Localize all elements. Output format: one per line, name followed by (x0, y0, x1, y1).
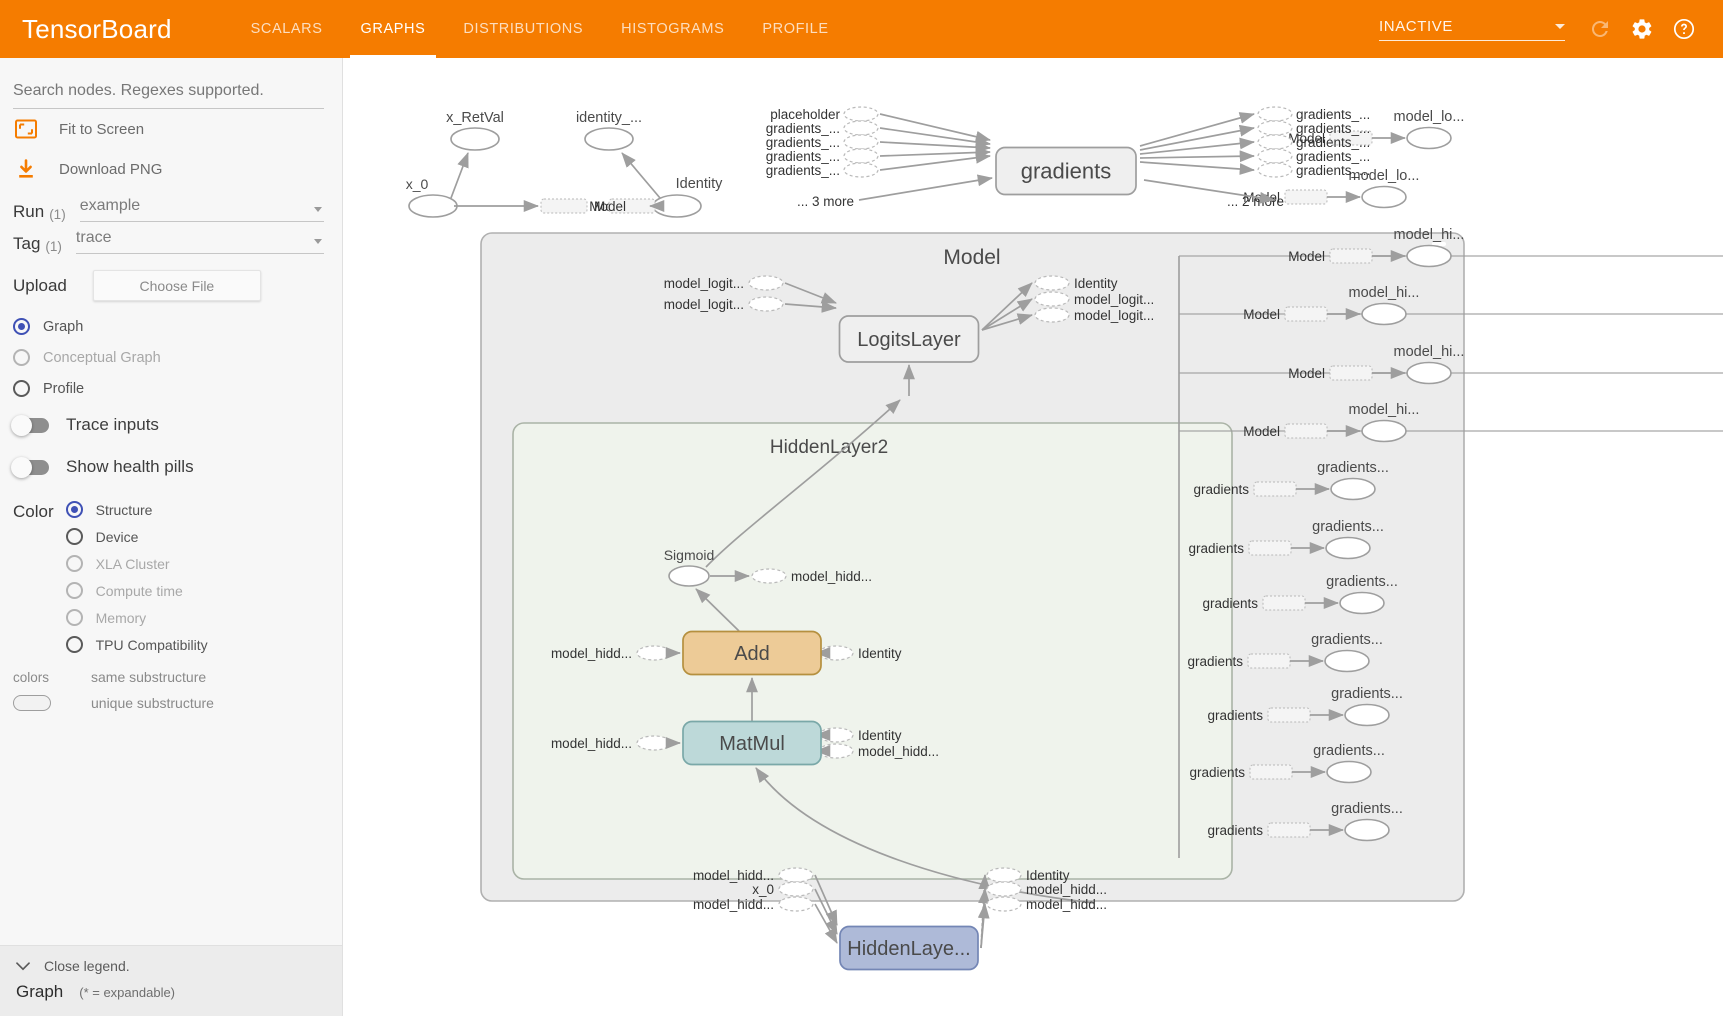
output-label: Identity (858, 728, 902, 743)
container-title-model: Model (943, 246, 1000, 269)
graph-edge (451, 153, 468, 198)
input-label: model_hidd... (551, 736, 632, 751)
sidebar-content: Fit to Screen Download PNG Run (1) examp… (0, 58, 342, 1016)
close-legend-label: Close legend. (44, 958, 130, 974)
legend-row-unique: unique substructure (0, 690, 342, 716)
node-x-retval[interactable] (451, 128, 499, 150)
radio-indicator (66, 555, 83, 572)
run-label: Run (13, 202, 44, 222)
node-x-0[interactable] (409, 195, 457, 217)
side-row-left-label: gradients (1189, 765, 1245, 780)
side-row-ellipse[interactable] (1362, 304, 1406, 325)
tab-profile[interactable]: PROFILE (743, 0, 847, 58)
output-node[interactable] (819, 728, 853, 742)
graph-type-radio-group: Graph Conceptual Graph Profile (0, 301, 342, 404)
radio-profile[interactable]: Profile (0, 373, 342, 404)
output-node[interactable] (1258, 149, 1292, 163)
radio-device[interactable]: Device (66, 523, 342, 550)
stub-node[interactable] (1248, 654, 1290, 668)
fit-to-screen-label: Fit to Screen (59, 121, 144, 138)
output-node[interactable] (1258, 121, 1292, 135)
label-model-stub-2: Model (589, 199, 626, 214)
label-identity: Identity (676, 176, 723, 192)
side-row-ellipse[interactable] (1407, 246, 1451, 267)
op-node-hiddenlaye[interactable]: HiddenLaye... (840, 927, 978, 970)
radio-indicator (13, 318, 30, 335)
label-identity-ref: identity_... (576, 110, 642, 126)
output-label: Identity (1026, 868, 1070, 883)
color-legend: colors same substructure unique substruc… (0, 658, 342, 716)
color-options: Structure Device XLA Cluster Compute tim… (66, 496, 342, 658)
graph-edge (1140, 128, 1254, 150)
choose-file-button[interactable]: Choose File (93, 270, 261, 301)
graph-edge (1140, 114, 1254, 146)
radio-indicator (66, 636, 83, 653)
stub-node[interactable] (1249, 541, 1291, 555)
input-node[interactable] (749, 297, 783, 311)
radio-graph-label: Graph (43, 319, 83, 335)
side-row-ellipse[interactable] (1340, 593, 1384, 614)
tab-scalars[interactable]: SCALARS (232, 0, 342, 58)
side-row-ellipse[interactable] (1362, 421, 1406, 442)
op-node-label-add: Add (734, 643, 770, 665)
op-node-label-gradients: gradients (1021, 159, 1112, 184)
status-label: INACTIVE (1379, 18, 1565, 35)
radio-xla-cluster-label: XLA Cluster (96, 556, 170, 572)
reload-icon[interactable] (1579, 8, 1621, 50)
run-selector[interactable]: Run (1) example (0, 190, 342, 222)
input-label: gradients_... (766, 163, 840, 178)
upload-row: Upload Choose File (0, 254, 342, 301)
input-node[interactable] (844, 163, 878, 177)
stub-node[interactable] (1285, 307, 1327, 321)
stub-node[interactable] (1250, 765, 1292, 779)
radio-compute-time-label: Compute time (96, 583, 183, 599)
input-label: model_hidd... (693, 897, 774, 912)
chevron-down-icon (314, 239, 322, 244)
trace-inputs-toggle[interactable]: Trace inputs (0, 404, 342, 446)
output-node[interactable] (819, 744, 853, 758)
radio-conceptual-graph-label: Conceptual Graph (43, 350, 161, 366)
input-node[interactable] (779, 882, 813, 896)
stub-node[interactable] (1285, 190, 1327, 204)
stub-model-1[interactable] (541, 199, 587, 213)
input-label: x_0 (752, 882, 774, 897)
graph-edge (1140, 156, 1254, 158)
output-label: model_hidd... (1026, 897, 1107, 912)
input-label: gradients_... (766, 121, 840, 136)
radio-structure-label: Structure (96, 502, 153, 518)
side-row-ellipse[interactable] (1327, 762, 1371, 783)
input-label: model_hidd... (551, 646, 632, 661)
op-node-label-logitslayer: LogitsLayer (857, 329, 961, 351)
input-node[interactable] (637, 736, 671, 750)
run-count: (1) (49, 207, 66, 222)
side-row-ellipse[interactable] (1325, 651, 1369, 672)
sidebar: Fit to Screen Download PNG Run (1) examp… (0, 58, 343, 1016)
input-node[interactable] (844, 135, 878, 149)
radio-tpu-compatibility-label: TPU Compatibility (96, 637, 208, 653)
radio-compute-time[interactable]: Compute time (66, 577, 342, 604)
input-label: gradients_... (766, 149, 840, 164)
output-node[interactable] (987, 882, 1021, 896)
side-row-left-label: Model (1288, 249, 1325, 264)
op-node-logitslayer[interactable]: LogitsLayer (840, 316, 979, 362)
output-node[interactable] (1035, 308, 1069, 322)
output-label: gradients_... (1296, 121, 1370, 136)
tag-label: Tag (13, 234, 40, 254)
op-node-label-matmul: MatMul (719, 733, 785, 755)
side-row-right-label: model_hi... (1394, 344, 1465, 360)
graph-edge (1140, 162, 1254, 170)
radio-tpu-compatibility[interactable]: TPU Compatibility (66, 631, 342, 658)
side-row-right-label: model_hi... (1349, 402, 1420, 418)
op-node-label-hiddenlaye: HiddenLaye... (847, 938, 970, 960)
label-x-0: x_0 (406, 176, 429, 192)
radio-profile-label: Profile (43, 381, 84, 397)
output-label: model_hidd... (1026, 882, 1107, 897)
graph-canvas[interactable]: ModelHiddenLayer2 Modelmodel_lo...Modelm… (344, 58, 1723, 1016)
output-node[interactable] (987, 897, 1021, 911)
output-label: model_logit... (1074, 308, 1154, 323)
label-sigmoid: Sigmoid (664, 547, 715, 563)
chevron-down-icon (16, 962, 30, 971)
side-row-ellipse[interactable] (1345, 705, 1389, 726)
upload-label: Upload (13, 276, 67, 296)
input-node[interactable] (844, 149, 878, 163)
graph-edge (622, 153, 660, 198)
download-icon (13, 159, 39, 180)
app-header: TensorBoard SCALARS GRAPHS DISTRIBUTIONS… (0, 0, 1723, 58)
input-node[interactable] (779, 868, 813, 882)
color-label: Color (0, 496, 54, 658)
output-more-label: ... 2 more (1227, 194, 1284, 209)
output-node[interactable] (1035, 276, 1069, 290)
radio-conceptual-graph[interactable]: Conceptual Graph (0, 342, 342, 373)
unique-substructure-swatch (13, 695, 51, 711)
radio-memory[interactable]: Memory (66, 604, 342, 631)
input-more-label: ... 3 more (797, 194, 854, 209)
output-node[interactable] (1258, 107, 1292, 121)
input-label: placeholder (770, 107, 840, 122)
radio-indicator (66, 501, 83, 518)
side-row-left-label: gradients (1207, 823, 1263, 838)
radio-device-label: Device (96, 529, 139, 545)
close-legend-button[interactable]: Close legend. (16, 958, 342, 974)
output-node[interactable] (987, 868, 1021, 882)
graph-edge (880, 142, 990, 148)
fit-to-screen-icon (13, 119, 39, 139)
side-row-left-label: gradients (1202, 596, 1258, 611)
chevron-down-icon (1555, 24, 1565, 29)
side-row-ellipse[interactable] (1331, 479, 1375, 500)
side-row-left-label: Model (1288, 366, 1325, 381)
stub-node[interactable] (1263, 596, 1305, 610)
radio-graph[interactable]: Graph (0, 311, 342, 342)
label-x-retval: x_RetVal (446, 110, 504, 126)
op-node-gradients[interactable]: gradients (996, 148, 1136, 195)
tag-value: trace (76, 229, 324, 247)
legend-footer: Close legend. Graph (* = expandable) (0, 945, 342, 1016)
run-value: example (80, 197, 324, 215)
legend-swatch-cell (13, 695, 69, 711)
side-row-right-label: gradients... (1331, 686, 1403, 702)
legend-same-substructure-label: same substructure (91, 669, 206, 685)
search-container (0, 58, 342, 109)
run-dropdown[interactable]: example (80, 197, 324, 222)
side-row-ellipse[interactable] (1362, 187, 1406, 208)
show-health-pills-label: Show health pills (66, 457, 194, 477)
stub-node[interactable] (1330, 366, 1372, 380)
side-row-left-label: gradients (1207, 708, 1263, 723)
legend-graph-note: (* = expandable) (79, 985, 175, 1000)
search-input[interactable] (13, 78, 324, 109)
output-label: model_hidd... (858, 744, 939, 759)
legend-graph-row: Graph (* = expandable) (16, 982, 342, 1002)
stub-node[interactable] (1268, 708, 1310, 722)
side-row-ellipse[interactable] (1407, 363, 1451, 384)
radio-structure[interactable]: Structure (66, 496, 342, 523)
help-icon[interactable] (1663, 8, 1705, 50)
tab-distributions[interactable]: DISTRIBUTIONS (444, 0, 602, 58)
side-row-right-label: model_hi... (1349, 285, 1420, 301)
side-row-right-label: model_lo... (1394, 109, 1465, 125)
graph-svg[interactable]: ModelHiddenLayer2 Modelmodel_lo...Modelm… (344, 58, 1723, 1016)
radio-indicator (66, 528, 83, 545)
tag-selector[interactable]: Tag (1) trace (0, 222, 342, 254)
toggle-switch (13, 418, 49, 433)
radio-indicator (66, 609, 83, 626)
output-label: gradients_... (1296, 107, 1370, 122)
stub-node[interactable] (1330, 249, 1372, 263)
radio-indicator (13, 349, 30, 366)
input-label: model_logit... (664, 297, 744, 312)
input-node[interactable] (749, 276, 783, 290)
side-row-left-label: gradients (1187, 654, 1243, 669)
output-label: gradients_... (1296, 149, 1370, 164)
side-row-left-label: gradients (1193, 482, 1249, 497)
side-row-ellipse[interactable] (1326, 538, 1370, 559)
main-nav-tabs: SCALARS GRAPHS DISTRIBUTIONS HISTOGRAMS … (232, 0, 848, 58)
node-identity[interactable] (653, 195, 701, 217)
side-row-right-label: gradients... (1326, 574, 1398, 590)
tag-dropdown[interactable]: trace (76, 229, 324, 254)
output-label: model_hidd... (791, 569, 872, 584)
output-node[interactable] (819, 646, 853, 660)
radio-indicator (66, 582, 83, 599)
output-label: model_logit... (1074, 292, 1154, 307)
side-row-right-label: gradients... (1312, 519, 1384, 535)
output-label: Identity (858, 646, 902, 661)
side-row-left-label: gradients (1188, 541, 1244, 556)
tab-histograms[interactable]: HISTOGRAMS (602, 0, 743, 58)
node-identity-ref[interactable] (585, 128, 633, 150)
input-label: gradients_... (766, 135, 840, 150)
graph-edge (859, 178, 992, 200)
input-node[interactable] (844, 107, 878, 121)
side-row-right-label: gradients... (1317, 460, 1389, 476)
output-node[interactable] (1258, 135, 1292, 149)
download-png-label: Download PNG (59, 161, 162, 178)
legend-graph-title: Graph (16, 982, 63, 1002)
output-label: gradients_... (1296, 163, 1370, 178)
op-node-add[interactable]: Add (683, 632, 821, 675)
download-png-button[interactable]: Download PNG (0, 149, 342, 190)
output-node[interactable] (1035, 292, 1069, 306)
app-title: TensorBoard (22, 14, 172, 45)
graph-edge (880, 156, 990, 170)
side-row-left-label: Model (1243, 424, 1280, 439)
side-row-right-label: model_hi... (1394, 227, 1465, 243)
trace-inputs-label: Trace inputs (66, 415, 159, 435)
graph-edge (1140, 142, 1254, 154)
side-row-ellipse[interactable] (1407, 128, 1451, 149)
output-node[interactable] (752, 569, 786, 583)
output-node[interactable] (1258, 163, 1292, 177)
chevron-down-icon (314, 207, 322, 212)
side-row-left-label: Model (1243, 307, 1280, 322)
tag-count: (1) (45, 239, 62, 254)
side-row-right-label: gradients... (1331, 801, 1403, 817)
stub-node[interactable] (1254, 482, 1296, 496)
input-node[interactable] (637, 646, 671, 660)
output-label: Identity (1074, 276, 1118, 291)
side-row-right-label: gradients... (1311, 632, 1383, 648)
stub-node[interactable] (1285, 424, 1327, 438)
output-label: gradients_... (1296, 135, 1370, 150)
tab-graphs[interactable]: GRAPHS (342, 0, 445, 58)
radio-indicator (13, 380, 30, 397)
container-title-hiddenlayer2: HiddenLayer2 (770, 437, 888, 458)
graph-edge (880, 152, 990, 156)
color-mode-group: Color Structure Device XLA Cluster Compu… (0, 488, 342, 658)
input-label: model_hidd... (693, 868, 774, 883)
op-node-matmul[interactable]: MatMul (683, 722, 821, 765)
fit-to-screen-button[interactable]: Fit to Screen (0, 109, 342, 149)
toggle-switch (13, 460, 49, 475)
side-row-ellipse[interactable] (1345, 820, 1389, 841)
input-node[interactable] (779, 897, 813, 911)
show-health-pills-toggle[interactable]: Show health pills (0, 446, 342, 488)
input-label: model_logit... (664, 276, 744, 291)
side-row-right-label: gradients... (1313, 743, 1385, 759)
legend-colors-label: colors (13, 670, 69, 685)
gear-icon[interactable] (1621, 8, 1663, 50)
legend-unique-substructure-label: unique substructure (91, 695, 214, 711)
node-sigmoid[interactable] (669, 566, 709, 586)
radio-xla-cluster[interactable]: XLA Cluster (66, 550, 342, 577)
radio-memory-label: Memory (96, 610, 147, 626)
legend-row-same: colors same substructure (0, 664, 342, 690)
stub-node[interactable] (1268, 823, 1310, 837)
status-dropdown[interactable]: INACTIVE (1379, 18, 1565, 41)
input-node[interactable] (844, 121, 878, 135)
header-actions: INACTIVE (1379, 8, 1723, 50)
